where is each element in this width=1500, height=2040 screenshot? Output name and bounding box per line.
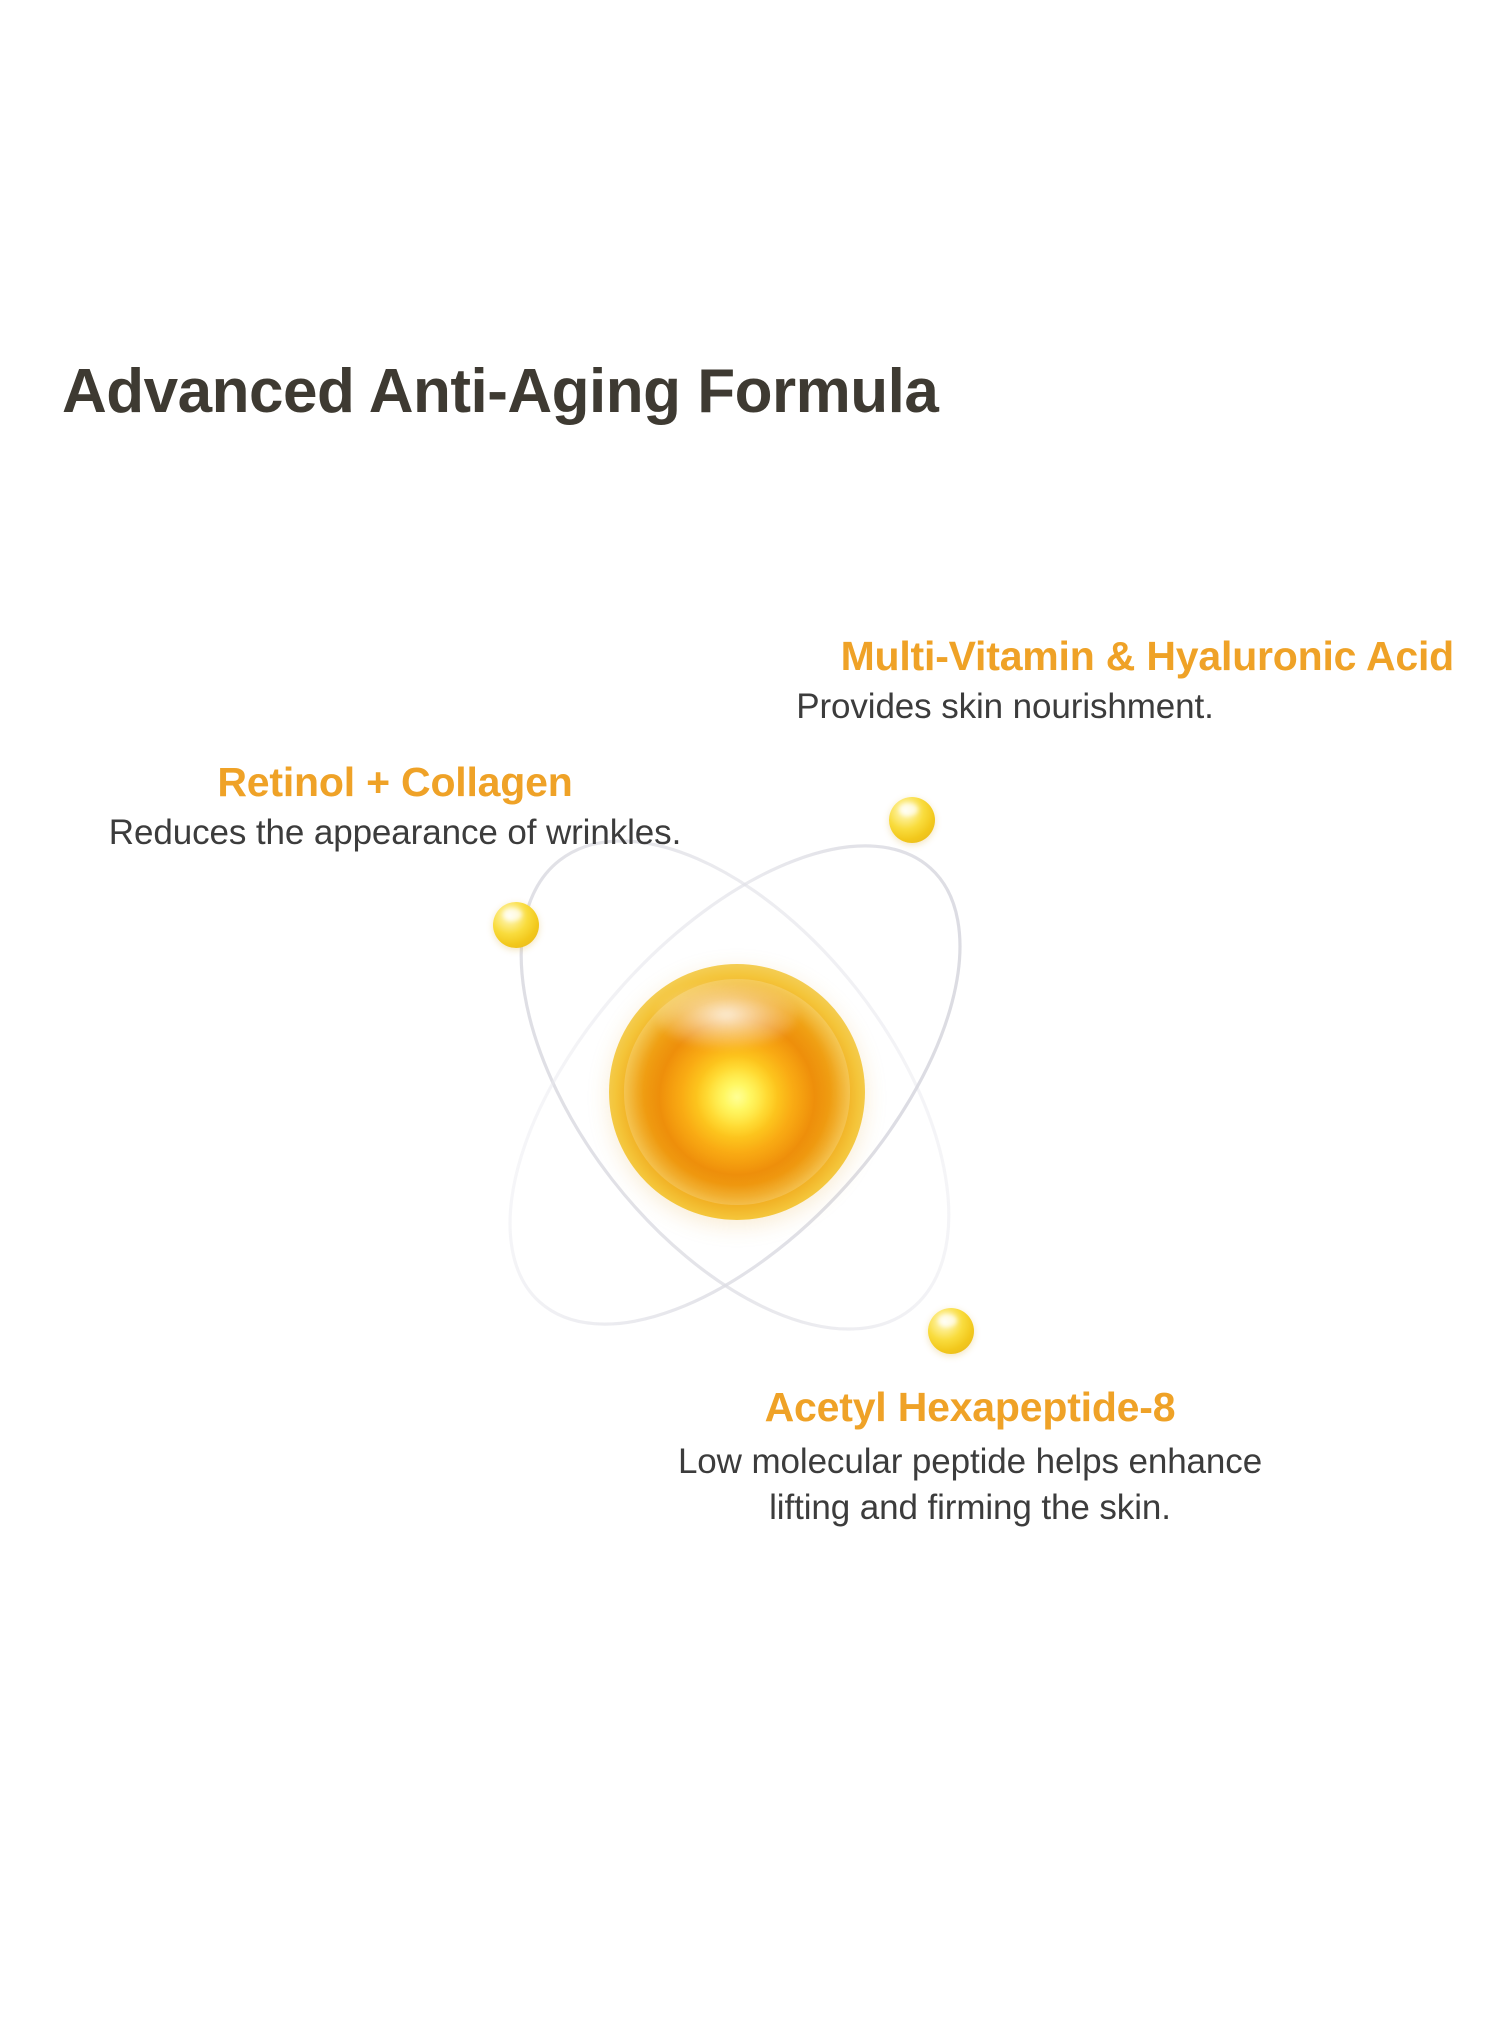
orbit-bead-left xyxy=(493,902,539,948)
serum-orb xyxy=(609,964,865,1220)
feature-acetyl-hexapeptide-title: Acetyl Hexapeptide-8 xyxy=(465,1385,1475,1431)
feature-acetyl-hexapeptide-description: Low molecular peptide helps enhance lift… xyxy=(465,1439,1475,1531)
feature-retinol-collagen-description-line-1: Reduces the appearance of wrinkles. xyxy=(0,810,790,856)
feature-multi-vitamin: Multi-Vitamin & Hyaluronic Acid Provides… xyxy=(574,634,1454,730)
feature-multi-vitamin-description: Provides skin nourishment. xyxy=(574,684,1454,730)
page-title: Advanced Anti-Aging Formula xyxy=(62,356,938,427)
feature-multi-vitamin-description-line-1: Provides skin nourishment. xyxy=(574,684,1436,730)
feature-acetyl-hexapeptide-description-line-2: lifting and firming the skin. xyxy=(465,1485,1475,1531)
orbit-bead-top-right xyxy=(889,797,935,843)
feature-acetyl-hexapeptide: Acetyl Hexapeptide-8 Low molecular pepti… xyxy=(465,1385,1475,1531)
feature-retinol-collagen: Retinol + Collagen Reduces the appearanc… xyxy=(0,760,790,856)
feature-retinol-collagen-title: Retinol + Collagen xyxy=(0,760,790,806)
feature-multi-vitamin-title: Multi-Vitamin & Hyaluronic Acid xyxy=(574,634,1454,680)
orbit-bead-bottom-right xyxy=(928,1308,974,1354)
feature-acetyl-hexapeptide-description-line-1: Low molecular peptide helps enhance xyxy=(465,1439,1475,1485)
feature-retinol-collagen-description: Reduces the appearance of wrinkles. xyxy=(0,810,790,856)
ingredient-infographic-page: Advanced Anti-Aging Formula xyxy=(0,0,1500,2040)
